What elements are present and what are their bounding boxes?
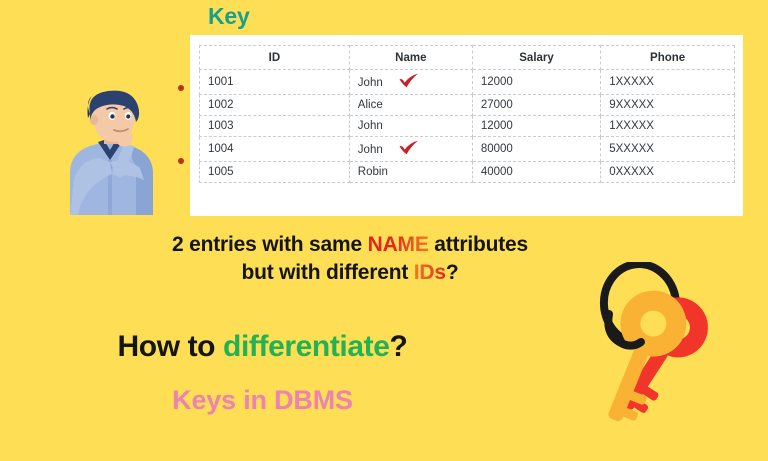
question-highlight-ids: IDs [414, 261, 446, 284]
cell-name-text: John [358, 77, 383, 89]
cell-phone: 1XXXXX [601, 70, 735, 95]
differentiate-pre: How to [118, 330, 224, 363]
column-header-phone: Phone [601, 46, 735, 70]
cell-id: 1004 [200, 137, 350, 162]
table-row: 1002 Alice 27000 9XXXXX [200, 95, 735, 116]
question-highlight-name: NAME [368, 233, 429, 256]
table-row: 1001 John 12000 1XXXXX [200, 70, 735, 95]
cell-name: Alice [349, 95, 472, 116]
cell-salary: 12000 [472, 70, 600, 95]
poster-canvas: Key [0, 0, 768, 461]
cell-salary: 40000 [472, 162, 600, 183]
cell-phone: 5XXXXX [601, 137, 735, 162]
cell-name: John [349, 70, 472, 95]
column-header-name: Name [349, 46, 472, 70]
cell-id: 1005 [200, 162, 350, 183]
column-header-id: ID [200, 46, 350, 70]
check-icon [398, 140, 420, 158]
bullet-marker-row-1004 [178, 158, 184, 164]
question-line1-pre: 2 entries with same [172, 233, 368, 256]
cell-name: John [349, 137, 472, 162]
differentiate-post: ? [390, 330, 408, 363]
thinking-person-illustration [52, 88, 168, 215]
keys-in-dbms-subtitle: Keys in DBMS [0, 385, 525, 416]
table-header-row: ID Name Salary Phone [200, 46, 735, 70]
differentiate-heading: How to differentiate? [0, 330, 525, 364]
table-row: 1005 Robin 40000 0XXXXX [200, 162, 735, 183]
cell-phone: 0XXXXX [601, 162, 735, 183]
question-line2-pre: but with different [241, 261, 413, 284]
cell-phone: 9XXXXX [601, 95, 735, 116]
column-header-salary: Salary [472, 46, 600, 70]
question-line1-post: attributes [429, 233, 528, 256]
cell-name-text: John [358, 144, 383, 156]
employee-table: ID Name Salary Phone 1001 John [199, 45, 735, 183]
keys-illustration [585, 262, 768, 452]
cell-id: 1003 [200, 116, 350, 137]
page-title-key: Key [208, 3, 250, 30]
check-icon [398, 73, 420, 91]
differentiate-highlight: differentiate [223, 330, 390, 363]
cell-id: 1002 [200, 95, 350, 116]
cell-salary: 12000 [472, 116, 600, 137]
cell-name: John [349, 116, 472, 137]
question-line-1: 2 entries with same NAME attributes [0, 231, 700, 259]
bullet-marker-row-1001 [178, 85, 184, 91]
cell-salary: 80000 [472, 137, 600, 162]
table-row: 1004 John 80000 5XXXXX [200, 137, 735, 162]
cell-salary: 27000 [472, 95, 600, 116]
cell-name: Robin [349, 162, 472, 183]
table-row: 1003 John 12000 1XXXXX [200, 116, 735, 137]
question-line2-post: ? [446, 261, 459, 284]
employee-table-card: ID Name Salary Phone 1001 John [190, 35, 743, 216]
cell-phone: 1XXXXX [601, 116, 735, 137]
cell-id: 1001 [200, 70, 350, 95]
